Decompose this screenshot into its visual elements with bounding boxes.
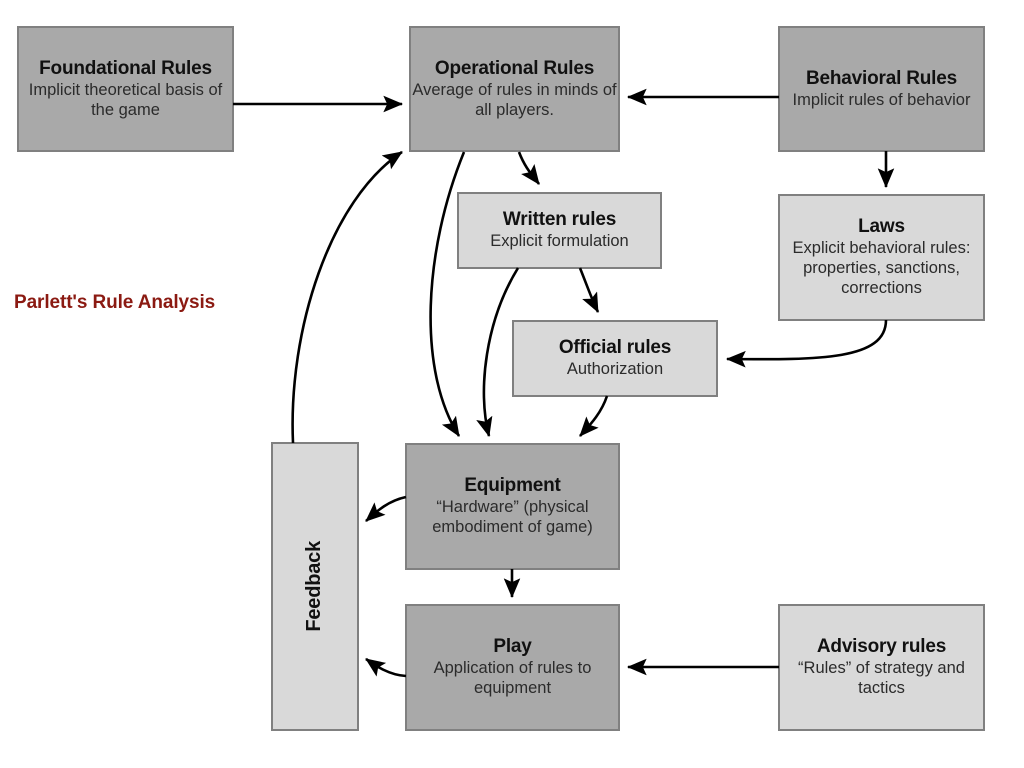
node-play[interactable] [406,605,619,730]
edge-written-to-official [580,268,598,312]
edge-play-to-feedback [366,659,406,676]
edge-equipment-to-feedback [366,497,406,521]
diagram-svg [0,0,1024,768]
edge-laws-to-official [727,320,886,359]
node-equipment[interactable] [406,444,619,569]
node-feedback[interactable] [272,443,358,730]
diagram-title: Parlett's Rule Analysis [14,292,294,314]
node-official-rules[interactable] [513,321,717,396]
edge-official-to-equipment [580,396,607,436]
diagram-canvas: Foundational Rules Implicit theoretical … [0,0,1024,768]
node-foundational-rules[interactable] [18,27,233,151]
node-operational-rules[interactable] [410,27,619,151]
edge-feedback-to-operational [293,152,402,443]
node-written-rules[interactable] [458,193,661,268]
edge-operational-to-written [519,152,539,184]
node-laws[interactable] [779,195,984,320]
node-behavioral-rules[interactable] [779,27,984,151]
node-advisory-rules[interactable] [779,605,984,730]
